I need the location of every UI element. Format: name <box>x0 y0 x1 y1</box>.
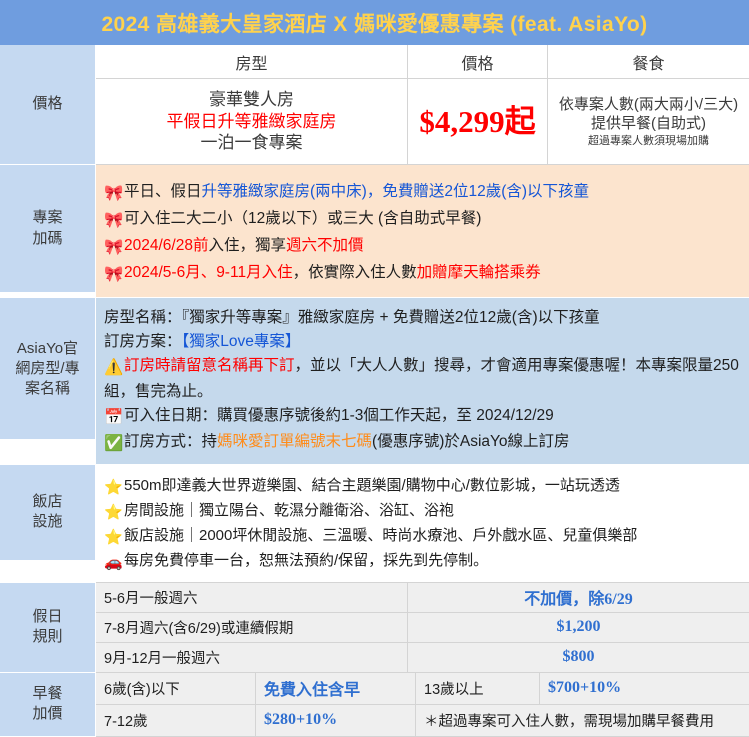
bonus-text: 入住，獨享 <box>208 237 286 254</box>
column-header-price: 價格 <box>408 45 548 79</box>
holiday-row: 7-8月週六(含6/29)或連續假期$1,200 <box>96 613 749 643</box>
asiayo-text: 訂房方式：持 <box>124 433 217 450</box>
asiayo-section: AsiaYo官 網房型/專 案名稱 房型名稱：『獨家升等專案』雅緻家庭房 + 免… <box>0 298 749 464</box>
bonus-line: 🎀2024/5-6月、9-11月入住，依實際入住人數加贈摩天輪搭乘券 <box>104 260 741 287</box>
breakfast-price-2: $700+10% <box>540 673 749 705</box>
hotel-text: 550m即達義大世界遊樂園、結合主題樂園/購物中心/數位影城，一站玩透透 <box>124 477 620 494</box>
promo-sheet: 2024 高雄義大皇家酒店 X 媽咪愛優惠專案 (feat. AsiaYo) 價… <box>0 0 749 681</box>
asiayo-line: 訂房方案：【獨家Love專案】 <box>104 330 741 354</box>
hotel-line: ⭐550m即達義大世界遊樂園、結合主題樂園/購物中心/數位影城，一站玩透透 <box>104 474 741 499</box>
asiayo-content: 房型名稱：『獨家升等專案』雅緻家庭房 + 免費贈送2位12歲(含)以下孩童訂房方… <box>96 298 749 464</box>
room-line-2: 平假日升等雅緻家庭房 <box>167 111 337 133</box>
bonus-content: 🎀平日、假日升等雅緻家庭房(兩中床)，免費贈送2位12歲(含)以下孩童🎀可入住二… <box>96 165 749 298</box>
holiday-price: 不加價，除6/29 <box>408 583 749 613</box>
asiayo-line: 房型名稱：『獨家升等專案』雅緻家庭房 + 免費贈送2位12歲(含)以下孩童 <box>104 306 741 330</box>
price-table-body-row: 豪華雙人房 平假日升等雅緻家庭房 一泊一食專案 $4,299起 依專案人數(兩大… <box>96 79 749 165</box>
room-type-cell: 豪華雙人房 平假日升等雅緻家庭房 一泊一食專案 <box>96 79 408 165</box>
bonus-text: 週六不加價 <box>286 237 364 254</box>
room-line-1: 豪華雙人房 <box>209 89 294 111</box>
breakfast-price-1: 免費入住含早 <box>256 673 416 705</box>
meal-line-2: 提供早餐(自助式) <box>591 114 706 133</box>
asiayo-line: 📅可入住日期：購買優惠序號後約1-3個工作天起，至 2024/12/29 <box>104 404 741 430</box>
price-amount: $4,299起 <box>419 102 535 142</box>
breakfast-table: 6歲(含)以下 免費入住含早 13歲以上 $700+10% 7-12歲 $280… <box>96 673 749 737</box>
hotel-text: 房間設施｜獨立陽台、乾濕分離衛浴、浴缸、浴袍 <box>124 502 454 519</box>
holiday-table: 5-6月一般週六不加價，除6/297-8月週六(含6/29)或連續假期$1,20… <box>96 583 749 673</box>
bonus-text: 加贈摩天輪搭乘券 <box>417 264 541 281</box>
column-header-room-type: 房型 <box>96 45 408 79</box>
hotel-line: ⭐飯店設施｜2000坪休閒設施、三溫暖、時尚水療池、戶外戲水區、兒童俱樂部 <box>104 524 741 549</box>
meal-cell: 依專案人數(兩大兩小/三大) 提供早餐(自助式) 超過專案人數須現場加購 <box>548 79 749 165</box>
bonus-section-label: 專案 加碼 <box>0 165 96 293</box>
bonus-text: 平日、假日 <box>124 183 202 200</box>
check-icon: ✅ <box>104 432 123 456</box>
bonus-text: 2024/6/28前 <box>124 237 208 254</box>
bonus-line: 🎀2024/6/28前入住，獨享週六不加價 <box>104 233 741 260</box>
hotel-line: 🚗每房免費停車一台，恕無法預約/保留，採先到先停制。 <box>104 549 741 574</box>
asiayo-text: (優惠序號)於AsiaYo線上訂房 <box>372 433 570 450</box>
price-section: 價格 房型 價格 餐食 豪華雙人房 平假日升等雅緻家庭房 一泊一食專案 $4,2… <box>0 45 749 165</box>
holiday-period: 9月-12月一般週六 <box>96 643 408 673</box>
asiayo-text: 媽咪愛訂單編號末七碼 <box>217 433 372 450</box>
holiday-period: 7-8月週六(含6/29)或連續假期 <box>96 613 408 643</box>
asiayo-text: 【獨家Love專案】 <box>182 333 301 350</box>
ribbon-bow-icon: 🎀 <box>104 208 123 233</box>
asiayo-text: 訂房時請留意名稱再下訂 <box>124 357 295 374</box>
holiday-price: $800 <box>408 643 749 673</box>
ribbon-bow-icon: 🎀 <box>104 262 123 287</box>
asiayo-text: 房型名稱：『獨家升等專案』雅緻家庭房 + 免費贈送2位12歲(含)以下孩童 <box>104 309 600 326</box>
calendar-icon: 📅 <box>104 406 123 430</box>
holiday-section: 假日 規則 5-6月一般週六不加價，除6/297-8月週六(含6/29)或連續假… <box>0 583 749 673</box>
holiday-row: 9月-12月一般週六$800 <box>96 643 749 673</box>
meal-line-3: 超過專案人數須現場加購 <box>588 134 709 148</box>
holiday-period: 5-6月一般週六 <box>96 583 408 613</box>
bonus-line: 🎀平日、假日升等雅緻家庭房(兩中床)，免費贈送2位12歲(含)以下孩童 <box>104 179 741 206</box>
page-title: 2024 高雄義大皇家酒店 X 媽咪愛優惠專案 (feat. AsiaYo) <box>101 8 647 38</box>
star-icon: ⭐ <box>104 500 123 524</box>
bonus-text: ，依實際入住人數 <box>293 264 417 281</box>
bonus-text: 2024/5-6月、9-11月入住 <box>124 264 293 281</box>
car-icon: 🚗 <box>104 550 123 574</box>
hotel-line: ⭐房間設施｜獨立陽台、乾濕分離衛浴、浴缸、浴袍 <box>104 499 741 524</box>
bonus-text: 可入住二大二小（12歲以下）或三大 (含自助式早餐) <box>124 210 481 227</box>
price-section-label: 價格 <box>0 45 96 165</box>
room-line-3: 一泊一食專案 <box>201 132 303 154</box>
bonus-line-list: 🎀平日、假日升等雅緻家庭房(兩中床)，免費贈送2位12歲(含)以下孩童🎀可入住二… <box>104 179 741 287</box>
hotel-content: ⭐550m即達義大世界遊樂園、結合主題樂園/購物中心/數位影城，一站玩透透⭐房間… <box>96 465 749 583</box>
page-title-bar: 2024 高雄義大皇家酒店 X 媽咪愛優惠專案 (feat. AsiaYo) <box>0 0 749 45</box>
hotel-line-list: ⭐550m即達義大世界遊樂園、結合主題樂園/購物中心/數位影城，一站玩透透⭐房間… <box>104 474 741 574</box>
bonus-text: 升等雅緻家庭房(兩中床)，免費贈送2位12歲(含)以下孩童 <box>202 183 590 200</box>
hotel-section-label: 飯店 設施 <box>0 465 96 561</box>
bonus-line: 🎀可入住二大二小（12歲以下）或三大 (含自助式早餐) <box>104 206 741 233</box>
holiday-section-label: 假日 規則 <box>0 583 96 673</box>
breakfast-age-1: 6歲(含)以下 <box>96 673 256 705</box>
hotel-text: 每房免費停車一台，恕無法預約/保留，採先到先停制。 <box>124 552 488 569</box>
hotel-text: 飯店設施｜2000坪休閒設施、三溫暖、時尚水療池、戶外戲水區、兒童俱樂部 <box>124 527 637 544</box>
star-icon: ⭐ <box>104 475 123 499</box>
breakfast-row-1: 6歲(含)以下 免費入住含早 13歲以上 $700+10% <box>96 673 749 705</box>
asiayo-line: ⚠️訂房時請留意名稱再下訂，並以「大人人數」搜尋，才會適用專案優惠喔！本專案限量… <box>104 354 741 404</box>
star-icon: ⭐ <box>104 525 123 549</box>
asiayo-line: ✅訂房方式：持媽咪愛訂單編號末七碼(優惠序號)於AsiaYo線上訂房 <box>104 430 741 456</box>
hotel-section: 飯店 設施 ⭐550m即達義大世界遊樂園、結合主題樂園/購物中心/數位影城，一站… <box>0 465 749 583</box>
holiday-price: $1,200 <box>408 613 749 643</box>
holiday-row: 5-6月一般週六不加價，除6/29 <box>96 583 749 613</box>
meal-line-1: 依專案人數(兩大兩小/三大) <box>559 95 738 114</box>
bonus-section: 專案 加碼 🎀平日、假日升等雅緻家庭房(兩中床)，免費贈送2位12歲(含)以下孩… <box>0 165 749 298</box>
breakfast-row-2: 7-12歲 $280+10% ＊超過專案可入住人數，需現場加購早餐費用 <box>96 705 749 737</box>
breakfast-age-3: 7-12歲 <box>96 705 256 737</box>
breakfast-price-3: $280+10% <box>256 705 416 737</box>
breakfast-age-2: 13歲以上 <box>416 673 540 705</box>
price-table-header-row: 房型 價格 餐食 <box>96 45 749 79</box>
column-header-meal: 餐食 <box>548 45 749 79</box>
asiayo-text: 可入住日期：購買優惠序號後約1-3個工作天起，至 2024/12/29 <box>124 407 554 424</box>
price-table: 房型 價格 餐食 豪華雙人房 平假日升等雅緻家庭房 一泊一食專案 $4,299起… <box>96 45 749 165</box>
breakfast-section-label: 早餐 加價 <box>0 673 96 737</box>
breakfast-note: ＊超過專案可入住人數，需現場加購早餐費用 <box>416 705 749 737</box>
warning-icon: ⚠️ <box>104 356 123 380</box>
asiayo-line-list: 房型名稱：『獨家升等專案』雅緻家庭房 + 免費贈送2位12歲(含)以下孩童訂房方… <box>104 306 741 455</box>
asiayo-text: 訂房方案： <box>104 333 182 350</box>
asiayo-section-label: AsiaYo官 網房型/專 案名稱 <box>0 298 96 440</box>
breakfast-section: 早餐 加價 6歲(含)以下 免費入住含早 13歲以上 $700+10% 7-12… <box>0 673 749 737</box>
ribbon-bow-icon: 🎀 <box>104 181 123 206</box>
price-amount-cell: $4,299起 <box>408 79 548 165</box>
ribbon-bow-icon: 🎀 <box>104 235 123 260</box>
